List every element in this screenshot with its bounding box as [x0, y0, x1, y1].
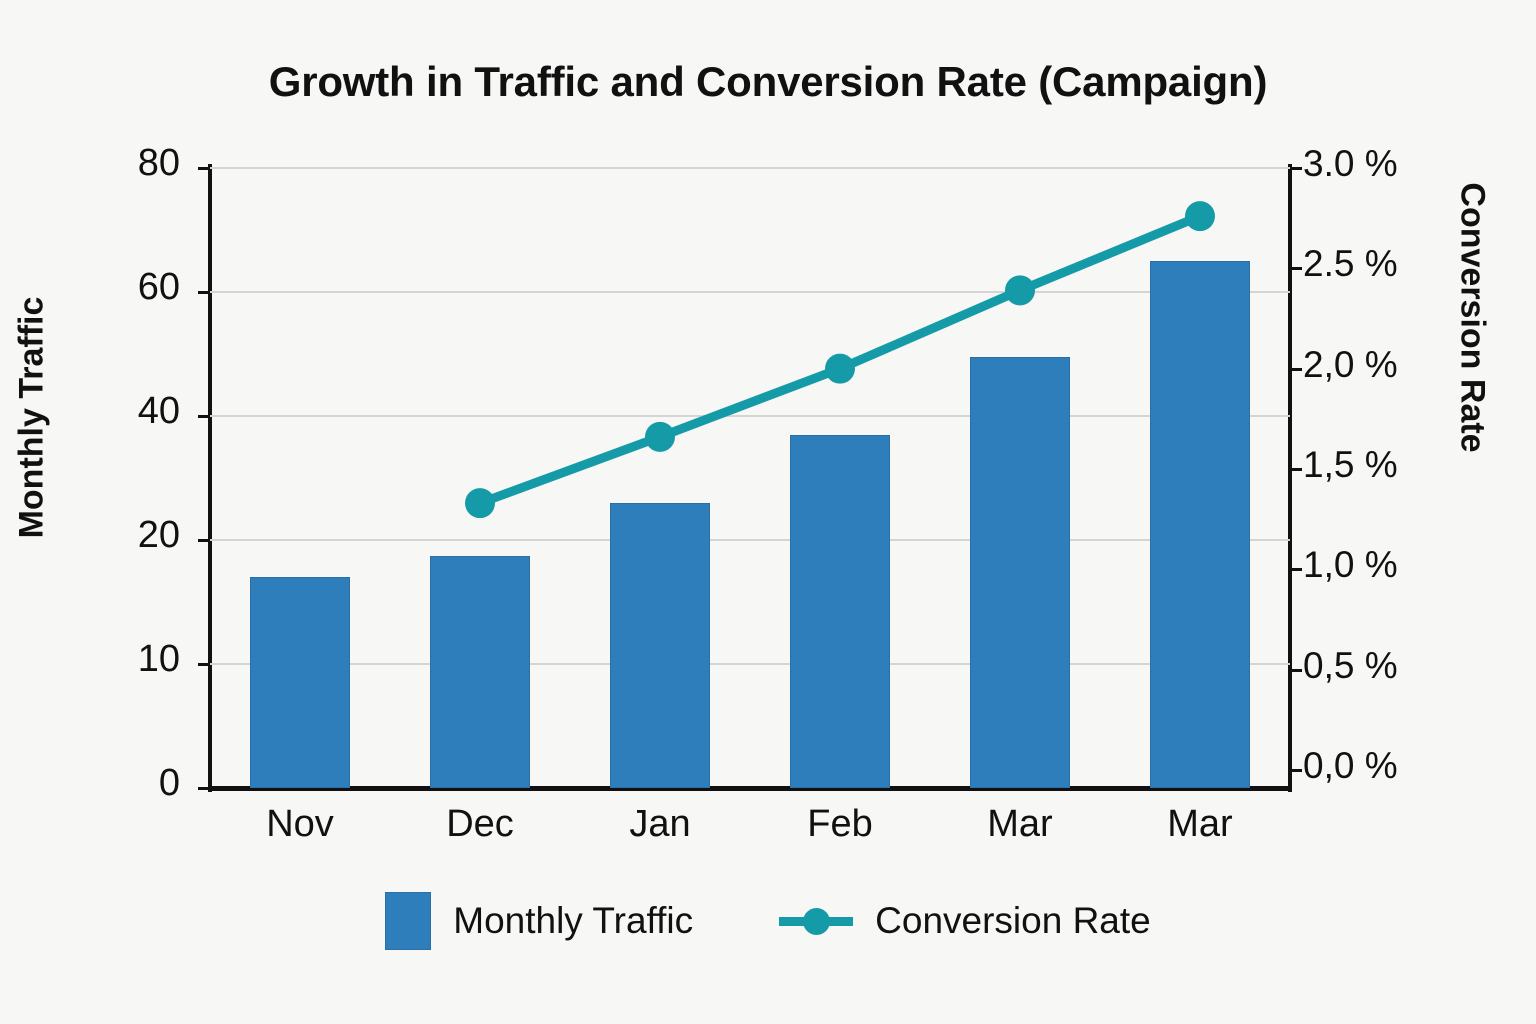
chart-container: Growth in Traffic and Conversion Rate (C… [0, 0, 1536, 1024]
x-axis-tick-label: Nov [200, 803, 400, 846]
bar[interactable] [1150, 261, 1250, 788]
x-axis-tick-label: Feb [740, 803, 940, 846]
legend-item-conversion-rate[interactable]: Conversion Rate [779, 900, 1151, 942]
bar[interactable] [790, 435, 890, 788]
x-axis-tick-label: Jan [560, 803, 760, 846]
legend-item-label: Conversion Rate [875, 900, 1151, 942]
plot-area [210, 168, 1290, 788]
bar[interactable] [610, 503, 710, 788]
legend-item-label: Monthly Traffic [453, 900, 693, 942]
left-axis-tick [198, 291, 210, 294]
right-axis-tick-label: 1,0 % [1303, 544, 1398, 586]
left-axis-tick-label: 20 [138, 514, 180, 557]
right-axis-tick [1290, 267, 1302, 270]
right-axis-tick [1290, 669, 1302, 672]
left-axis-title: Monthly Traffic [13, 208, 52, 628]
bar[interactable] [970, 357, 1070, 788]
left-axis-tick [198, 787, 210, 790]
right-axis-tick-label: 2.5 % [1303, 243, 1398, 285]
x-axis-tick-label: Mar [1100, 803, 1300, 846]
right-axis-tick [1290, 167, 1302, 170]
right-axis-tick-label: 0,0 % [1303, 745, 1398, 787]
bar[interactable] [430, 556, 530, 789]
right-axis-tick-label: 3.0 % [1303, 143, 1398, 185]
left-axis-tick-label: 0 [159, 762, 180, 805]
right-axis-title: Conversion Rate [1453, 108, 1492, 528]
left-axis-tick [198, 663, 210, 666]
left-axis-tick [198, 539, 210, 542]
x-axis-tick-label: Dec [380, 803, 580, 846]
right-axis-tick-label: 1,5 % [1303, 444, 1398, 486]
bar[interactable] [250, 577, 350, 788]
chart-title: Growth in Traffic and Conversion Rate (C… [0, 58, 1536, 106]
right-axis-tick [1290, 368, 1302, 371]
left-axis-tick [198, 167, 210, 170]
left-axis-tick [198, 415, 210, 418]
right-axis-tick [1290, 468, 1302, 471]
bar-swatch-icon [385, 892, 431, 950]
left-axis-tick-label: 10 [138, 638, 180, 681]
legend-item-monthly-traffic[interactable]: Monthly Traffic [385, 892, 693, 950]
right-axis-tick-label: 0,5 % [1303, 645, 1398, 687]
right-axis-tick [1290, 568, 1302, 571]
chart-legend: Monthly Traffic Conversion Rate [0, 892, 1536, 950]
right-axis-tick-label: 2,0 % [1303, 344, 1398, 386]
left-axis-tick-label: 40 [138, 390, 180, 433]
right-axis-tick [1290, 769, 1302, 772]
x-axis-tick-label: Mar [920, 803, 1120, 846]
line-marker-swatch-icon [779, 905, 853, 937]
left-axis-tick-label: 60 [138, 266, 180, 309]
left-axis-tick-label: 80 [138, 142, 180, 185]
